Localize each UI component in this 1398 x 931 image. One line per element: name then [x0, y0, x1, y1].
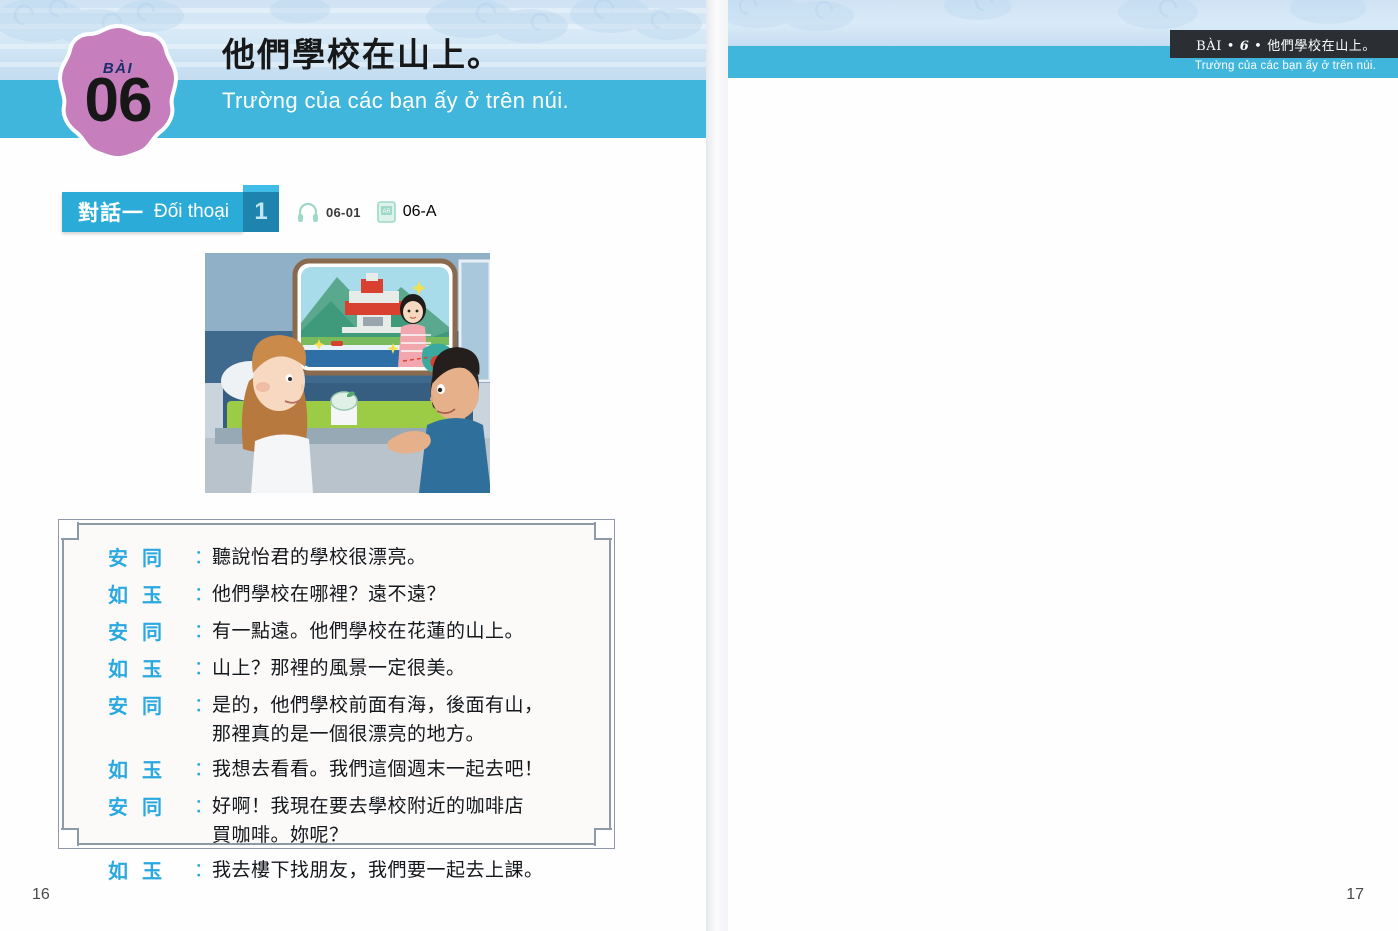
- dialogue-text: 我想去看看。我們這個週末一起去吧！: [212, 755, 544, 784]
- ar-tablet-icon[interactable]: AR: [377, 201, 396, 223]
- page-number-left: 16: [32, 886, 50, 904]
- ribbon-fold: [243, 185, 279, 192]
- headphone-icon[interactable]: [297, 202, 319, 222]
- speaker-char-1: 安: [108, 792, 142, 822]
- page-title-vietnamese: Trường của các bạn ấy ở trên núi.: [222, 88, 569, 114]
- lesson-badge-number: 06: [56, 70, 180, 132]
- dialogue-row: 如 玉 ： 山上？那裡的風景一定很美。: [64, 654, 609, 684]
- dialogue-text: 我去樓下找朋友，我們要一起去上課。: [212, 856, 544, 885]
- dialogue-number: 1: [243, 192, 279, 232]
- speaker-char-1: 安: [108, 691, 142, 721]
- running-header-bar: BÀI • 6 • 他們學校在山上。: [1170, 30, 1398, 58]
- page-number-right: 17: [1346, 886, 1364, 904]
- book-gutter: [706, 0, 728, 931]
- speaker-char-1: 安: [108, 543, 142, 573]
- speaker-char-1: 如: [108, 856, 142, 886]
- ar-content-group[interactable]: AR 06-A: [377, 201, 437, 223]
- speaker-colon: ：: [194, 543, 212, 572]
- speaker-char-2: 同: [142, 691, 194, 721]
- dialogue-row: 安 同 ： 好啊！我現在要去學校附近的咖啡店 買咖啡。妳呢？: [64, 792, 609, 849]
- dialogue-row: 如 玉 ： 他們學校在哪裡？遠不遠？: [64, 580, 609, 610]
- speaker-char-1: 安: [108, 617, 142, 647]
- dialogue-banner-cn: 對話一: [78, 197, 144, 227]
- lesson-badge: BÀI 06: [56, 22, 180, 162]
- page-left: BÀI 06 他們學校在山上。 Trường của các bạn ấy ở …: [0, 0, 706, 931]
- dialogue-row: 安 同 ： 是的，他們學校前面有海，後面有山， 那裡真的是一個很漂亮的地方。: [64, 691, 609, 748]
- page-right: BÀI • 6 • 他們學校在山上。 Trường của các bạn ấy…: [728, 0, 1398, 931]
- dialogue-box: 安 同 ： 聽說怡君的學校很漂亮。 如 玉 ： 他們學校在哪裡？遠不遠？ 安 同…: [62, 523, 611, 845]
- speaker-char-2: 同: [142, 792, 194, 822]
- dialogue-banner-vi: Đối thoại: [154, 201, 229, 223]
- speaker-char-1: 如: [108, 654, 142, 684]
- speaker-colon: ：: [194, 755, 212, 784]
- audio-track-code: 06-01: [326, 205, 361, 220]
- dialogue-row: 安 同 ： 有一點遠。他們學校在花蓮的山上。: [64, 617, 609, 647]
- dialogue-number-ribbon: 1: [243, 192, 279, 232]
- dialogue-row: 如 玉 ： 我去樓下找朋友，我們要一起去上課。: [64, 856, 609, 886]
- speaker-char-2: 玉: [142, 654, 194, 684]
- speaker-colon: ：: [194, 580, 212, 609]
- dialogue-row: 如 玉 ： 我想去看看。我們這個週末一起去吧！: [64, 755, 609, 785]
- speaker-char-2: 玉: [142, 856, 194, 886]
- speaker-char-2: 同: [142, 617, 194, 647]
- audio-track-group[interactable]: 06-01: [297, 202, 361, 222]
- speaker-char-2: 玉: [142, 580, 194, 610]
- speaker-char-1: 如: [108, 755, 142, 785]
- speaker-colon: ：: [194, 617, 212, 646]
- dialogue-text: 山上？那裡的風景一定很美。: [212, 654, 466, 683]
- dialogue-text: 是的，他們學校前面有海，後面有山， 那裡真的是一個很漂亮的地方。: [212, 691, 544, 748]
- speaker-colon: ：: [194, 856, 212, 885]
- running-header-subtitle: Trường của các bạn ấy ở trên núi.: [1195, 60, 1376, 72]
- running-header-text: BÀI • 6 • 他們學校在山上。: [1196, 35, 1376, 54]
- page-title-chinese: 他們學校在山上。: [222, 28, 502, 76]
- dialogue-banner: 對話一 Đối thoại 1 06-01 AR: [62, 192, 437, 232]
- dialogue-text: 有一點遠。他們學校在花蓮的山上。: [212, 617, 524, 646]
- dialogue-text: 好啊！我現在要去學校附近的咖啡店 買咖啡。妳呢？: [212, 792, 524, 849]
- svg-text:AR: AR: [382, 209, 391, 215]
- book-spread: BÀI 06 他們學校在山上。 Trường của các bạn ấy ở …: [0, 0, 1398, 931]
- speaker-char-2: 同: [142, 543, 194, 573]
- lesson-illustration: 花 蓮: [205, 253, 490, 493]
- dialogue-text: 聽說怡君的學校很漂亮。: [212, 543, 427, 572]
- speaker-colon: ：: [194, 654, 212, 683]
- dialogue-row: 安 同 ： 聽說怡君的學校很漂亮。: [64, 543, 609, 573]
- ar-content-code: 06-A: [403, 203, 437, 221]
- speaker-char-2: 玉: [142, 755, 194, 785]
- speaker-colon: ：: [194, 792, 212, 821]
- dialogue-text: 他們學校在哪裡？遠不遠？: [212, 580, 446, 609]
- dialogue-banner-tab: 對話一 Đối thoại: [62, 192, 243, 232]
- dialogue-lines: 安 同 ： 聽說怡君的學校很漂亮。 如 玉 ： 他們學校在哪裡？遠不遠？ 安 同…: [64, 543, 609, 893]
- speaker-char-1: 如: [108, 580, 142, 610]
- speaker-colon: ：: [194, 691, 212, 720]
